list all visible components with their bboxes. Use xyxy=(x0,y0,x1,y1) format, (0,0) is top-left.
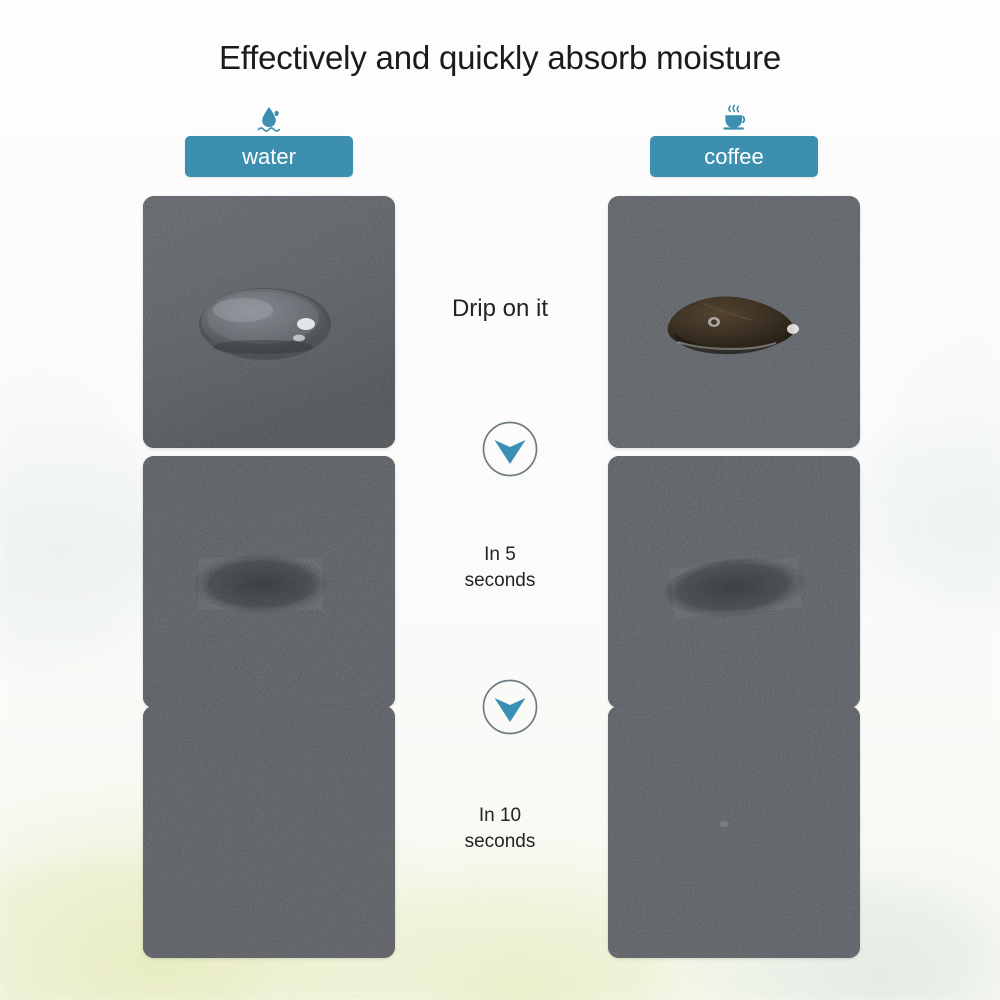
column-header-water: water xyxy=(143,104,395,177)
photo-tile-coffee-5s xyxy=(608,456,860,708)
page-title: Effectively and quickly absorb moisture xyxy=(0,38,1000,78)
coffee-cup-icon xyxy=(608,104,860,134)
photo-tile-water-5s xyxy=(143,456,395,708)
badge-coffee: coffee xyxy=(650,136,818,177)
water-drop-icon xyxy=(143,104,395,134)
chevron-down-icon-1 xyxy=(481,420,539,478)
photo-tile-coffee-10s xyxy=(608,706,860,958)
step-label-5-line1: In 5 xyxy=(400,542,600,568)
photo-tile-water-drip xyxy=(143,196,395,448)
badge-water: water xyxy=(185,136,353,177)
step-label-10-line2: seconds xyxy=(400,829,600,855)
step-label-5-seconds: In 5 seconds xyxy=(400,542,600,594)
chevron-down-icon-2 xyxy=(481,678,539,736)
column-header-coffee: coffee xyxy=(608,104,860,177)
step-label-10-line1: In 10 xyxy=(400,803,600,829)
photo-tile-water-10s xyxy=(143,706,395,958)
step-label-drip: Drip on it xyxy=(400,294,600,323)
step-label-10-seconds: In 10 seconds xyxy=(400,803,600,855)
step-label-5-line2: seconds xyxy=(400,568,600,594)
infographic-page: Effectively and quickly absorb moisture … xyxy=(0,0,1000,1000)
photo-tile-coffee-drip xyxy=(608,196,860,448)
